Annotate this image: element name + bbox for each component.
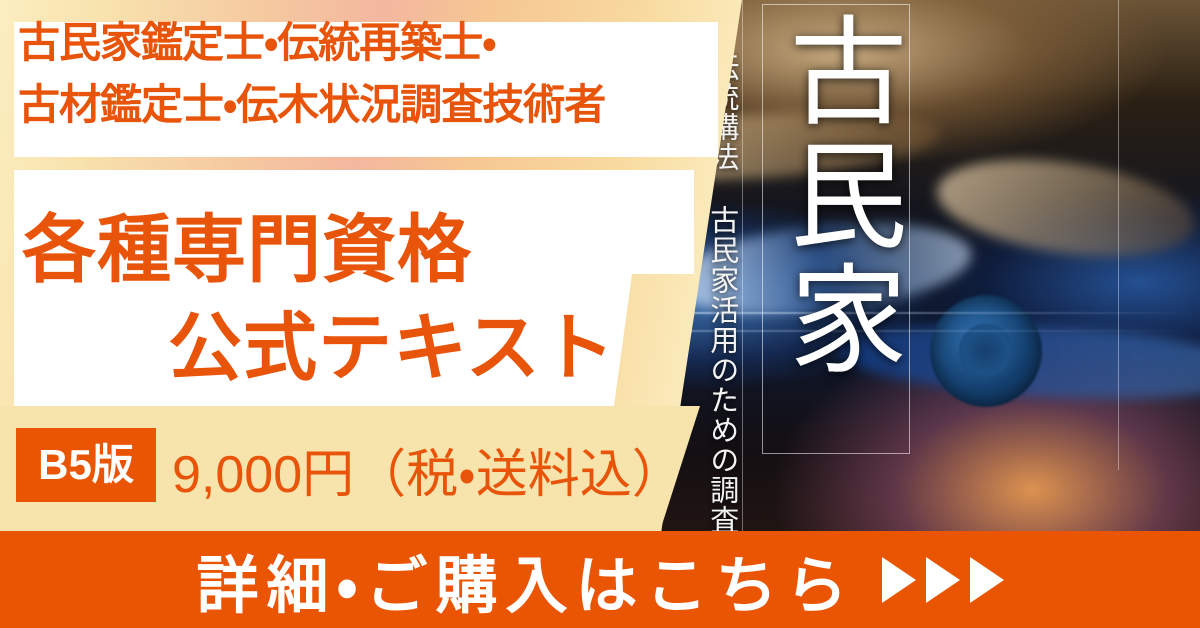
- cover-vertical-rule-right: [1118, 0, 1119, 470]
- headline-line-2: 公式テキスト: [168, 288, 616, 395]
- cover-title-text: 古民家: [768, 10, 904, 382]
- play-arrow-icon-2: [926, 557, 960, 603]
- cta-button[interactable]: 詳細・ご購入はこちら: [0, 531, 1200, 628]
- play-arrow-icon-3: [970, 557, 1004, 603]
- cover-vertical-rule-left: [742, 0, 743, 540]
- cta-label: 詳細・ご購入はこちら: [196, 535, 855, 625]
- carved-wood-swirl-2: [931, 146, 1200, 271]
- play-arrow-icon-1: [882, 557, 916, 603]
- cta-arrows: [882, 557, 1004, 603]
- size-badge-label: B5版: [38, 444, 134, 486]
- certifications-line-2: 古材鑑定士・伝木状況調査技術者: [18, 76, 605, 133]
- promo-banner[interactable]: 古民家 伝統構法 古民家活用のための調査と再生の 古民家鑑定士・伝統再築士・ 古…: [0, 0, 1200, 628]
- size-badge: B5版: [16, 428, 156, 502]
- headline-line-1: 各種専門資格: [22, 190, 472, 297]
- price-label: 9,000円（税・送料込）: [172, 432, 684, 507]
- certifications-line-1: 古民家鑑定士・伝統再築士・: [18, 14, 496, 71]
